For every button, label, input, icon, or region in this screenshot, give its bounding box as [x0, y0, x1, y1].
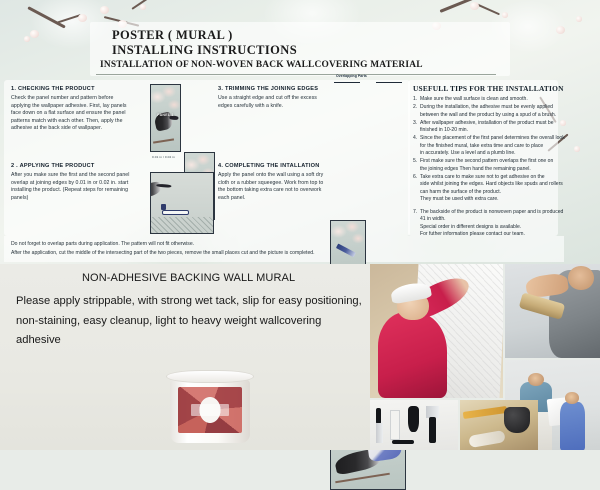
tip-line: Special order in different designs is av…	[420, 224, 521, 230]
instruction-sheet: POSTER ( MURAL ) INSTALLING INSTRUCTIONS…	[0, 0, 600, 264]
bucket-label	[178, 387, 242, 433]
tip-number: 6.	[413, 174, 417, 181]
tips-spacer	[413, 204, 593, 208]
promo-heading: NON-ADHESIVE BACKING WALL MURAL	[82, 272, 295, 284]
tip-line: 41 in width.	[420, 216, 446, 222]
step-2-body: After you make sure the first and the se…	[11, 172, 133, 202]
step-3-body: Use a straight edge and cut off the exce…	[218, 95, 326, 110]
photo-tools	[370, 400, 458, 450]
step-1-checking-the-product: 1. CHECKING THE PRODUCT Check the panel …	[11, 86, 133, 133]
promo-body: Please apply strippable, with strong wet…	[16, 292, 362, 351]
wall-hatch-texture	[151, 217, 213, 233]
useful-tips-section: USEFULL TIPS FOR THE INSTALLATION 1. Mak…	[413, 84, 593, 239]
branch-illustration	[153, 139, 174, 144]
step-3-trimming-the-joining-edges: 3. TRIMMING THE JOINING EDGES Use a stra…	[218, 86, 326, 110]
tip-line: During the installation, the adhesive mu…	[420, 104, 553, 110]
tip-item: 2. During the installation, the adhesive…	[413, 104, 593, 119]
woman-torso	[378, 312, 447, 398]
tip-line: They must be used with extra care.	[420, 196, 499, 202]
squeegee-handle	[161, 204, 166, 210]
tip-item: 3. After wallpaper adhesive, installatio…	[413, 120, 593, 135]
step-4-heading: 4. COMPLETING THE INTALLATION	[218, 163, 326, 169]
overlap-measure-arrow-right	[376, 82, 402, 83]
tip-number: 1.	[413, 96, 417, 103]
tool-handle	[392, 440, 414, 444]
wooden-plank	[463, 406, 507, 419]
tip-item: 6. Take extra care to make sure not to g…	[413, 174, 593, 203]
step-1-heading: 1. CHECKING THE PRODUCT	[11, 86, 133, 92]
tool-blade	[390, 410, 400, 440]
photo-rolls-and-paste	[460, 400, 538, 450]
tip-line: between the wall and the product by usin…	[420, 112, 556, 118]
bucket-lid	[166, 370, 254, 383]
dimension-label: 0.01 in / 0.02 in	[152, 155, 175, 159]
tip-line: After wallpaper adhesive, installation o…	[420, 120, 554, 126]
tip-line: in accurately. Use a level and a plumb l…	[420, 150, 516, 156]
title-line-2: INSTALLING INSTRUCTIONS	[112, 43, 297, 58]
tip-line: Since the placement of the first panel d…	[420, 135, 565, 141]
step-4-completing-the-installation: 4. COMPLETING THE INTALLATION Apply the …	[218, 163, 326, 202]
tip-item: 7. The backside of the product is nonwov…	[413, 209, 593, 238]
photo-collage	[370, 264, 600, 450]
tip-number: 4.	[413, 135, 417, 142]
tips-heading: USEFULL TIPS FOR THE INSTALLATION	[413, 84, 593, 93]
tip-line: For futher information please contact ou…	[420, 231, 525, 237]
tip-number: 7.	[413, 209, 417, 216]
paste-pot	[504, 407, 531, 433]
squeegee-icon	[162, 210, 189, 215]
wallpaper-roll	[469, 430, 506, 448]
step-4-body: Apply the panel onto the wall using a so…	[218, 172, 326, 202]
adhesive-bucket-image	[166, 370, 254, 446]
tool-blade	[376, 423, 383, 443]
tip-line: First make sure the second pattern overl…	[420, 158, 553, 164]
overlap-measure-arrow-left	[334, 82, 360, 83]
subtitle: INSTALLATION OF NON-WOVEN BACK WALLCOVER…	[100, 60, 423, 70]
bird-illustration	[150, 181, 162, 200]
branch-illustration	[336, 473, 390, 483]
tip-line: the joining edges Then hand the remainin…	[420, 166, 531, 172]
step-3-heading: 3. TRIMMING THE JOINING EDGES	[218, 86, 326, 92]
page-title: POSTER ( MURAL ) INSTALLING INSTRUCTIONS	[112, 28, 297, 58]
tip-number: 3.	[413, 120, 417, 127]
tip-number: 5.	[413, 158, 417, 165]
photo-hands-with-roller	[505, 264, 600, 358]
title-line-1: POSTER ( MURAL )	[112, 28, 297, 43]
tip-number: 2.	[413, 104, 417, 111]
bucket-label-text	[191, 404, 229, 416]
tip-line: for the finished mural, take extra time …	[420, 143, 543, 149]
tip-item: 1. Make sure the wall surface is clean a…	[413, 96, 593, 103]
man-head	[528, 373, 544, 387]
footer-note-1: Do not forget to overlap parts during ap…	[11, 240, 481, 249]
tip-item: 4. Since the placement of the first pane…	[413, 135, 593, 157]
tip-line: Make sure the wall surface is clean and …	[420, 96, 528, 102]
child-head	[565, 392, 579, 404]
diagram-applying-product	[150, 172, 214, 234]
tool-handle	[429, 417, 436, 443]
panel-1-label: PANEL 1	[157, 113, 174, 117]
footer-note-2: After the application, cut the middle of…	[11, 249, 481, 258]
tip-line: finished in 10-20 min.	[420, 127, 468, 133]
tool-handle	[408, 406, 419, 432]
step-2-applying-the-product: 2 . APPLYING THE PRODUCT After you make …	[11, 163, 133, 202]
diagram-panel-1: PANEL 1	[150, 84, 181, 152]
tip-item: 5. First make sure the second pattern ov…	[413, 158, 593, 173]
tip-line: Take extra care to make sure not to get …	[420, 174, 545, 180]
overlapping-parts-label: Overlapping Parts	[336, 74, 367, 78]
tip-line: can harm the surface of the product.	[420, 189, 501, 195]
step-1-body: Check the panel number and pattern befor…	[11, 95, 133, 133]
step-2-heading: 2 . APPLYING THE PRODUCT	[11, 163, 133, 169]
tool-handle	[376, 408, 381, 424]
tips-list: 1. Make sure the wall surface is clean a…	[413, 96, 593, 238]
footer-notes: Do not forget to overlap parts during ap…	[11, 240, 481, 259]
photo-woman-applying-wallpaper	[370, 264, 503, 398]
title-divider	[96, 74, 496, 75]
tip-line: The backside of the product is nonwoven …	[420, 209, 563, 215]
child-body	[560, 402, 585, 450]
tip-line: side whilst joining the edges. Hard obje…	[420, 181, 563, 187]
